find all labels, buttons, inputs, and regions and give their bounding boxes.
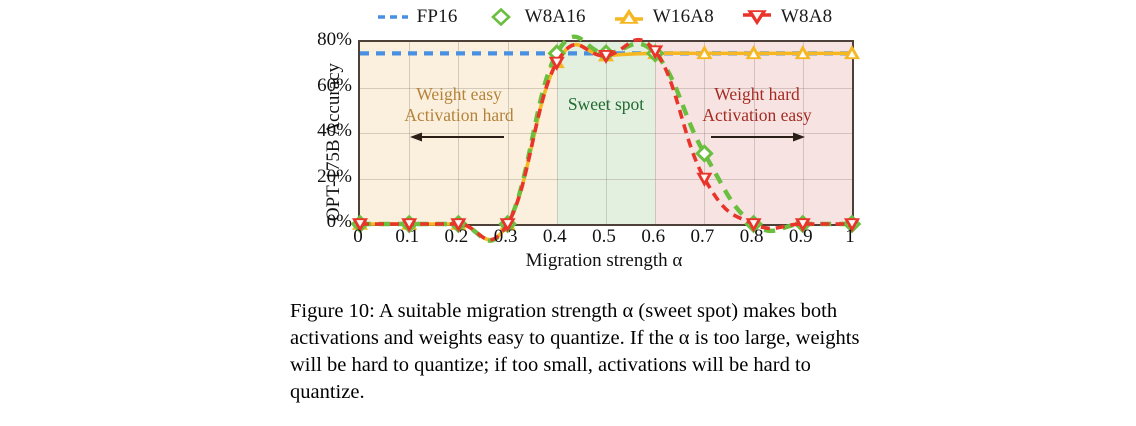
figure-caption: Figure 10: A suitable migration strength…	[290, 298, 870, 406]
legend-item-w8a8: W8A8	[740, 6, 832, 28]
y-axis-ticks: 80% 60% 40% 20% 0%	[286, 40, 352, 222]
series-w8a8	[352, 40, 860, 240]
triangle-down-marker-icon	[740, 8, 774, 26]
figure-10: FP16 W8A16 W16A8	[0, 0, 1136, 290]
legend-item-w8a16: W8A16	[484, 6, 586, 28]
x-tick-label: 0	[353, 226, 363, 248]
x-tick-label: 0.2	[445, 226, 469, 248]
legend-item-fp16: FP16	[376, 6, 458, 28]
legend-label-w8a8: W8A8	[781, 6, 832, 28]
x-tick-label: 0.3	[494, 226, 518, 248]
y-tick-label: 60%	[286, 75, 352, 97]
x-tick-label: 0.7	[691, 226, 715, 248]
x-axis-title: Migration strength α	[358, 250, 850, 272]
series-w16a8	[352, 45, 860, 240]
chart-series-layer	[360, 42, 852, 224]
plot-area: Weight easy Activation hard Sweet spot W…	[358, 40, 854, 226]
fp16-line-icon	[376, 8, 410, 26]
x-tick-label: 0.1	[395, 226, 419, 248]
legend-label-w8a16: W8A16	[525, 6, 586, 28]
legend-item-w16a8: W16A8	[612, 6, 714, 28]
x-tick-label: 1	[845, 226, 855, 248]
x-tick-label: 0.5	[592, 226, 616, 248]
y-tick-label: 20%	[286, 166, 352, 188]
x-tick-label: 0.6	[641, 226, 665, 248]
x-axis-ticks: 0 0.1 0.2 0.3 0.4 0.5 0.6 0.7 0.8 0.9 1	[358, 226, 850, 252]
legend-label-w16a8: W16A8	[653, 6, 714, 28]
triangle-up-marker-icon	[612, 8, 646, 26]
y-tick-label: 0%	[286, 211, 352, 233]
figure-page: FP16 W8A16 W16A8	[0, 0, 1136, 426]
legend-label-fp16: FP16	[417, 6, 458, 28]
diamond-marker-icon	[484, 8, 518, 26]
x-tick-label: 0.9	[789, 226, 813, 248]
x-tick-label: 0.4	[543, 226, 567, 248]
chart-legend: FP16 W8A16 W16A8	[358, 4, 850, 30]
series-w8a16	[353, 37, 859, 241]
y-tick-label: 40%	[286, 120, 352, 142]
y-tick-label: 80%	[286, 29, 352, 51]
x-tick-label: 0.8	[740, 226, 764, 248]
